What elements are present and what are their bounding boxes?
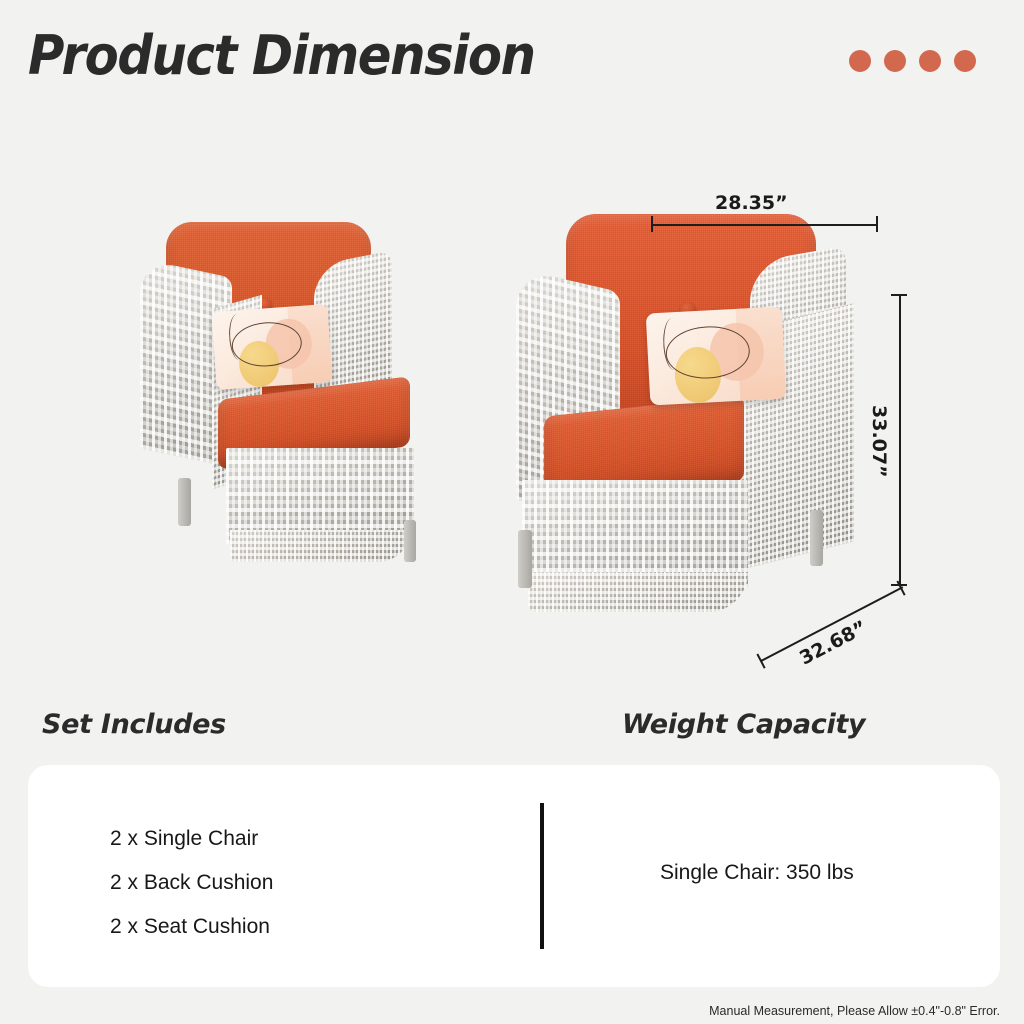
list-item: 2 x Single Chair (110, 817, 273, 861)
decorative-dots (849, 50, 976, 72)
product-illustration-stage: 28.35” 33.07” 32.68” (0, 150, 1024, 690)
list-item: 2 x Back Cushion (110, 861, 273, 905)
base-apron-left (230, 530, 410, 562)
decor-pillow-left (211, 304, 332, 390)
dot-2 (884, 50, 906, 72)
set-includes-list: 2 x Single Chair 2 x Back Cushion 2 x Se… (110, 817, 273, 949)
infographic-page: Product Dimension (0, 0, 1024, 1024)
leg-rear-left (404, 520, 416, 562)
leg-front-right (518, 530, 532, 588)
vertical-divider (540, 803, 544, 949)
set-includes-heading: Set Includes (42, 709, 226, 740)
weight-capacity-value: Single Chair: 350 lbs (660, 861, 854, 885)
dot-1 (849, 50, 871, 72)
weight-capacity-heading: Weight Capacity (622, 709, 865, 740)
base-apron-right (528, 572, 748, 612)
chair-left (118, 220, 438, 620)
measurement-footnote: Manual Measurement, Please Allow ±0.4"-0… (709, 1004, 1000, 1018)
decor-pillow-right (646, 307, 787, 406)
leg-rear-right (810, 510, 823, 566)
dot-3 (919, 50, 941, 72)
list-item: 2 x Seat Cushion (110, 905, 273, 949)
dimension-width-label: 28.35” (715, 192, 788, 214)
page-title: Product Dimension (28, 24, 535, 87)
dimension-height-label: 33.07” (868, 405, 890, 478)
details-card: 2 x Single Chair 2 x Back Cushion 2 x Se… (28, 765, 1000, 987)
dot-4 (954, 50, 976, 72)
chair-right (500, 210, 900, 680)
leg-front-left (178, 478, 191, 526)
